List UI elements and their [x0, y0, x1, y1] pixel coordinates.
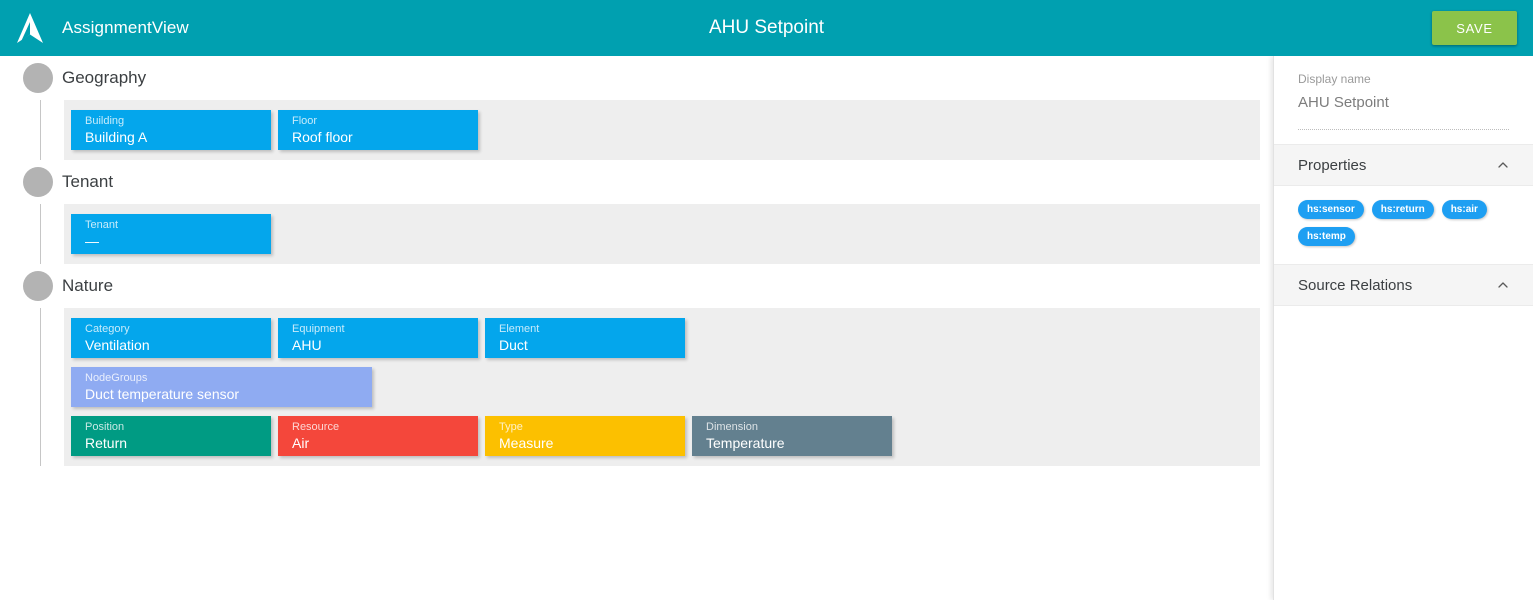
group-header: Tenant [0, 160, 1273, 204]
attribute-card-value: Return [85, 434, 271, 452]
card-row: PositionReturnResourceAirTypeMeasureDime… [64, 416, 1260, 456]
display-name-label: Display name [1298, 72, 1509, 86]
card-row: BuildingBuilding AFloorRoof floor [64, 110, 1260, 150]
app-bar: AssignmentView AHU Setpoint SAVE [0, 0, 1533, 56]
group-rail [40, 308, 41, 466]
group-title: Geography [62, 68, 146, 88]
attribute-card-key: Tenant [85, 218, 271, 232]
group-rail [40, 100, 41, 160]
page-title: AHU Setpoint [0, 0, 1533, 56]
attribute-card-value: AHU [292, 336, 478, 354]
group-band: BuildingBuilding AFloorRoof floor [64, 100, 1260, 160]
details-sidebar: Display name Properties hs:sensorhs:retu… [1273, 56, 1533, 600]
group-nature: NatureCategoryVentilationEquipmentAHUEle… [0, 264, 1273, 466]
brand-name: AssignmentView [62, 18, 189, 38]
attribute-card[interactable]: BuildingBuilding A [71, 110, 271, 150]
attribute-card-value: Air [292, 434, 478, 452]
property-chip-list: hs:sensorhs:returnhs:airhs:temp [1298, 200, 1513, 246]
group-header: Nature [0, 264, 1273, 308]
card-row: NodeGroupsDuct temperature sensor [64, 367, 1260, 407]
group-tenant: TenantTenant— [0, 160, 1273, 264]
attribute-card-value: — [85, 232, 271, 250]
attribute-card[interactable]: DimensionTemperature [692, 416, 892, 456]
arrow-a-logo-icon [12, 10, 48, 46]
attribute-card[interactable]: PositionReturn [71, 416, 271, 456]
source-relations-panel-body [1274, 306, 1533, 338]
attribute-card-key: Resource [292, 420, 478, 434]
card-row: CategoryVentilationEquipmentAHUElementDu… [64, 318, 1260, 358]
group-band: CategoryVentilationEquipmentAHUElementDu… [64, 308, 1260, 466]
attribute-card-key: Position [85, 420, 271, 434]
attribute-card-key: NodeGroups [85, 371, 372, 385]
brand[interactable]: AssignmentView [12, 10, 189, 46]
attribute-card-value: Duct temperature sensor [85, 385, 372, 403]
attribute-card-key: Floor [292, 114, 478, 128]
source-relations-panel-header[interactable]: Source Relations [1274, 264, 1533, 306]
attribute-card-key: Equipment [292, 322, 478, 336]
assignment-canvas: GeographyBuildingBuilding AFloorRoof flo… [0, 56, 1273, 600]
group-title: Tenant [62, 172, 113, 192]
attribute-card-value: Temperature [706, 434, 892, 452]
display-name-input[interactable] [1298, 94, 1509, 130]
properties-panel-header[interactable]: Properties [1274, 144, 1533, 186]
attribute-card-key: Element [499, 322, 685, 336]
attribute-card-value: Building A [85, 128, 271, 146]
attribute-card-key: Type [499, 420, 685, 434]
property-chip[interactable]: hs:return [1372, 200, 1434, 219]
attribute-card-value: Roof floor [292, 128, 478, 146]
group-body: Tenant— [0, 204, 1273, 264]
group-header: Geography [0, 56, 1273, 100]
properties-panel-title: Properties [1298, 157, 1366, 174]
chevron-up-icon[interactable] [1497, 159, 1509, 171]
attribute-card-key: Dimension [706, 420, 892, 434]
chevron-up-icon[interactable] [1497, 279, 1509, 291]
attribute-card[interactable]: CategoryVentilation [71, 318, 271, 358]
group-band: Tenant— [64, 204, 1260, 264]
sidebar-spacer [1274, 130, 1533, 144]
group-body: BuildingBuilding AFloorRoof floor [0, 100, 1273, 160]
attribute-card[interactable]: EquipmentAHU [278, 318, 478, 358]
group-geography: GeographyBuildingBuilding AFloorRoof flo… [0, 56, 1273, 160]
group-list: GeographyBuildingBuilding AFloorRoof flo… [0, 56, 1273, 466]
attribute-card-key: Category [85, 322, 271, 336]
properties-panel-body: hs:sensorhs:returnhs:airhs:temp [1274, 186, 1533, 264]
attribute-card[interactable]: NodeGroupsDuct temperature sensor [71, 367, 372, 407]
attribute-card[interactable]: FloorRoof floor [278, 110, 478, 150]
attribute-card-value: Measure [499, 434, 685, 452]
group-body: CategoryVentilationEquipmentAHUElementDu… [0, 308, 1273, 466]
attribute-card[interactable]: ElementDuct [485, 318, 685, 358]
attribute-card[interactable]: TypeMeasure [485, 416, 685, 456]
property-chip[interactable]: hs:temp [1298, 227, 1355, 246]
attribute-card[interactable]: ResourceAir [278, 416, 478, 456]
group-bullet-icon[interactable] [23, 271, 53, 301]
attribute-card-value: Ventilation [85, 336, 271, 354]
group-title: Nature [62, 276, 113, 296]
group-bullet-icon[interactable] [23, 63, 53, 93]
save-button[interactable]: SAVE [1432, 11, 1517, 45]
property-chip[interactable]: hs:sensor [1298, 200, 1364, 219]
attribute-card-value: Duct [499, 336, 685, 354]
display-name-field: Display name [1274, 56, 1533, 130]
card-row: Tenant— [64, 214, 1260, 254]
app-root: AssignmentView AHU Setpoint SAVE Geograp… [0, 0, 1533, 600]
group-bullet-icon[interactable] [23, 167, 53, 197]
attribute-card[interactable]: Tenant— [71, 214, 271, 254]
source-relations-panel-title: Source Relations [1298, 277, 1412, 294]
property-chip[interactable]: hs:air [1442, 200, 1487, 219]
attribute-card-key: Building [85, 114, 271, 128]
group-rail [40, 204, 41, 264]
